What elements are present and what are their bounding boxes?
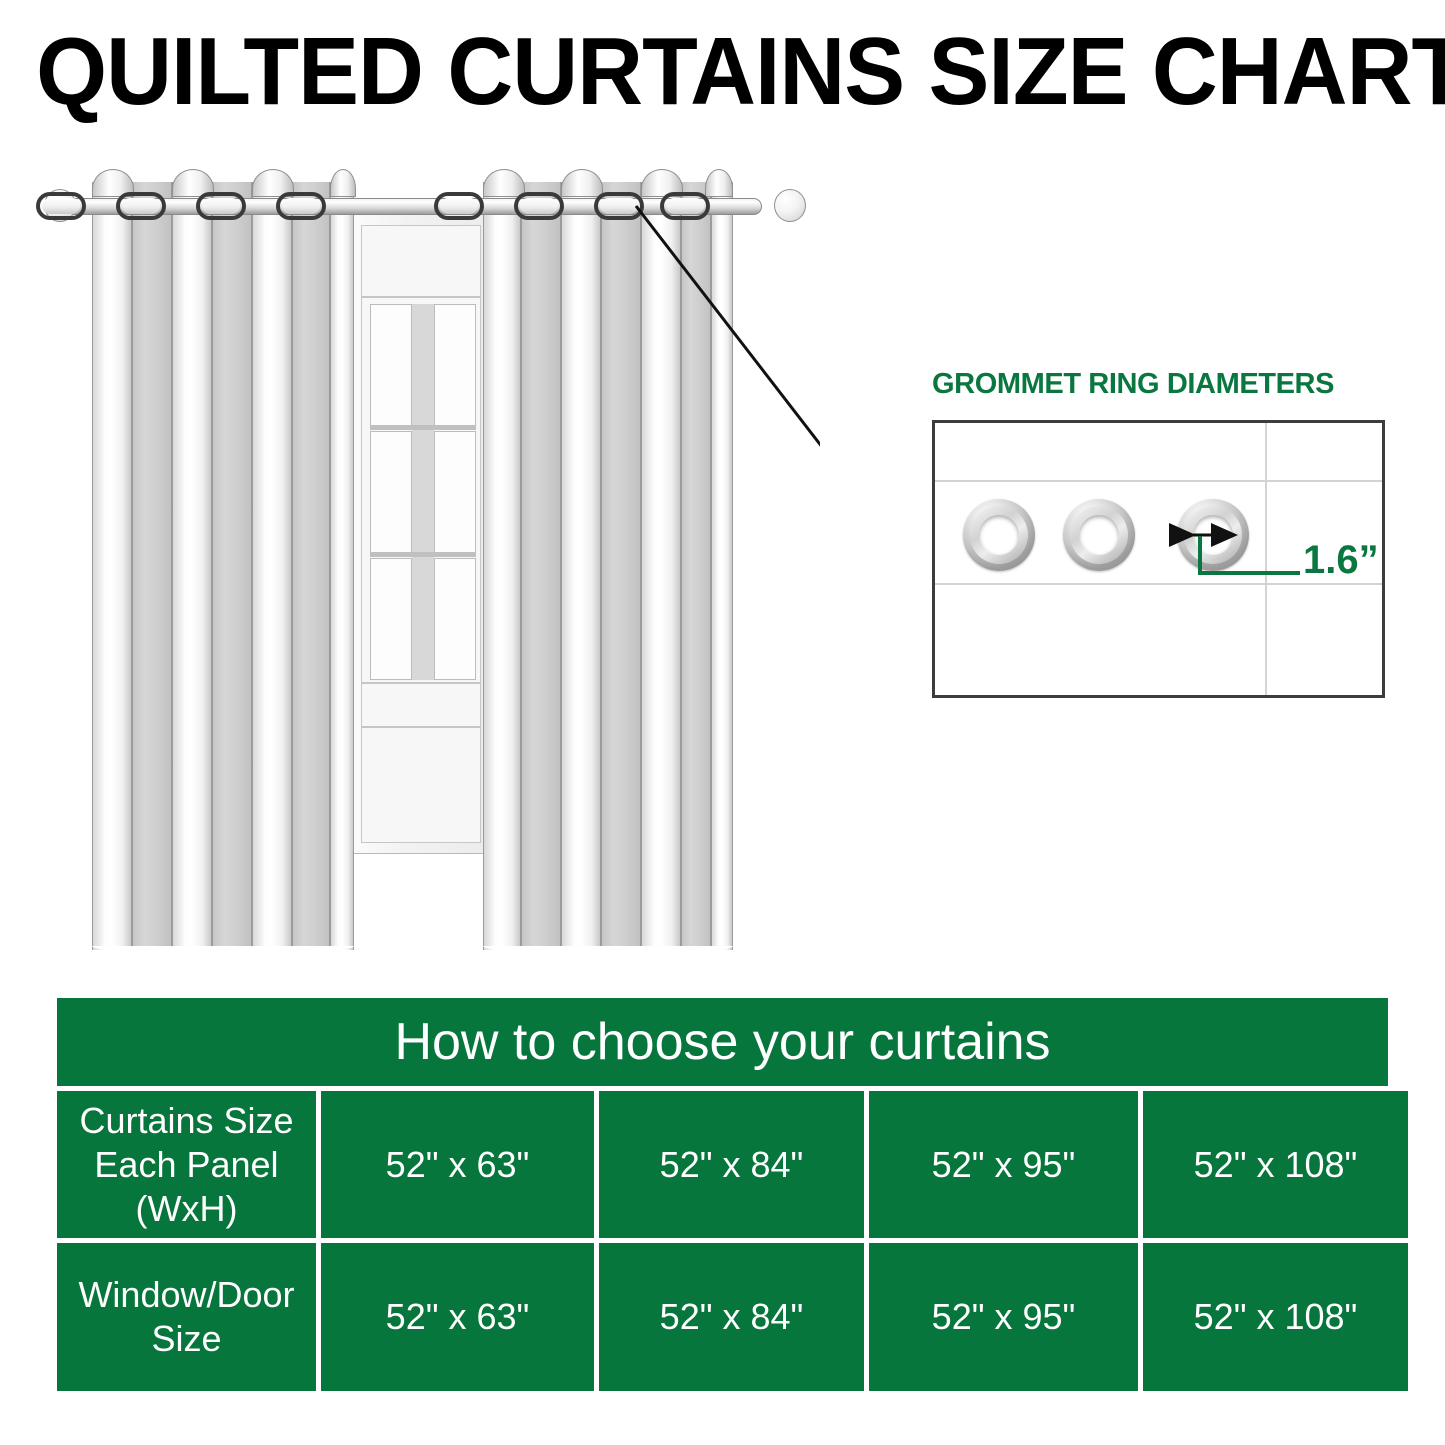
curtain-fold xyxy=(252,182,292,950)
curtain-fold xyxy=(711,182,733,950)
window-pane xyxy=(370,558,412,680)
row-label-line: Curtains Size xyxy=(79,1100,293,1141)
window-pane xyxy=(370,304,412,426)
curtain-panel-left xyxy=(92,182,354,950)
table-row: Window/Door Size 52" x 63" 52" x 84" 52"… xyxy=(57,1243,1388,1391)
fabric-edge-line xyxy=(1265,423,1267,695)
window-inner-frame xyxy=(361,225,481,843)
curtain-fold xyxy=(92,182,132,950)
window-pane xyxy=(434,304,476,426)
window-rail-top xyxy=(362,296,480,298)
grommet-ring-sample xyxy=(1063,499,1135,571)
grommet-ring-icon xyxy=(116,192,166,220)
row-label-line: (WxH) xyxy=(136,1188,238,1229)
grommet-ring-sample xyxy=(963,499,1035,571)
table-cell: 52" x 63" xyxy=(321,1243,594,1391)
row-label-line: Size xyxy=(151,1318,221,1359)
curtain-hem xyxy=(483,946,733,954)
size-chart-page: QUILTED CURTAINS SIZE CHART xyxy=(0,0,1445,1445)
curtain-fold xyxy=(132,182,172,950)
window-pane xyxy=(434,558,476,680)
window-door-graphic xyxy=(352,214,490,854)
curtain-pleat-cap xyxy=(561,169,603,197)
curtain-hem xyxy=(92,946,354,954)
grommet-detail-panel: GROMMET RING DIAMETERS 1.6” xyxy=(905,360,1405,710)
row-label-line: Each Panel xyxy=(94,1144,278,1185)
window-mullion-vertical xyxy=(412,304,434,680)
grommet-ring-icon xyxy=(660,192,710,220)
row-label-curtain-size: Curtains Size Each Panel (WxH) xyxy=(57,1091,316,1238)
rod-finial-right-icon xyxy=(774,189,806,222)
grommet-ring-icon xyxy=(36,192,86,220)
grommet-ring-icon xyxy=(196,192,246,220)
size-table: How to choose your curtains Curtains Siz… xyxy=(57,998,1388,1391)
curtain-pleat-cap xyxy=(483,169,525,197)
window-mullion-horizontal xyxy=(370,552,476,557)
grommet-ring-icon xyxy=(514,192,564,220)
curtain-rod xyxy=(62,198,762,215)
page-title: QUILTED CURTAINS SIZE CHART xyxy=(36,24,1409,120)
curtain-fold xyxy=(521,182,561,950)
window-mullion-horizontal xyxy=(370,425,476,430)
curtain-fold xyxy=(681,182,711,950)
grommet-diameter-label: 1.6” xyxy=(1303,538,1379,583)
curtain-fold xyxy=(601,182,641,950)
table-header-title: How to choose your curtains xyxy=(57,998,1388,1086)
curtain-fold xyxy=(212,182,252,950)
grommet-detail-heading: GROMMET RING DIAMETERS xyxy=(932,368,1412,401)
window-pane xyxy=(370,431,412,553)
curtain-pleat-cap xyxy=(330,169,356,197)
table-row: Curtains Size Each Panel (WxH) 52" x 63"… xyxy=(57,1091,1388,1238)
window-pane xyxy=(434,431,476,553)
table-cell: 52" x 108" xyxy=(1143,1243,1408,1391)
grommet-ring-sample xyxy=(1177,499,1249,571)
curtain-pleat-cap xyxy=(705,169,733,197)
grommet-ring-icon xyxy=(434,192,484,220)
window-rail-bottom xyxy=(362,682,480,684)
table-cell: 52" x 63" xyxy=(321,1091,594,1238)
curtain-fold xyxy=(292,182,330,950)
fabric-seam-line xyxy=(935,583,1382,585)
fabric-seam-line xyxy=(935,480,1382,482)
table-cell: 52" x 84" xyxy=(599,1243,864,1391)
curtain-fold xyxy=(561,182,601,950)
row-label-window-size: Window/Door Size xyxy=(57,1243,316,1391)
grommet-ring-icon xyxy=(594,192,644,220)
curtain-fold xyxy=(483,182,521,950)
curtain-fold xyxy=(330,182,354,950)
curtain-fold xyxy=(641,182,681,950)
table-cell: 52" x 95" xyxy=(869,1091,1138,1238)
curtain-fold xyxy=(172,182,212,950)
row-label-line: Window/Door xyxy=(78,1274,294,1315)
table-cell: 52" x 84" xyxy=(599,1091,864,1238)
curtain-panel-right xyxy=(483,182,733,950)
table-cell: 52" x 95" xyxy=(869,1243,1138,1391)
grommet-ring-icon xyxy=(276,192,326,220)
curtain-illustration xyxy=(0,160,820,970)
window-sill xyxy=(362,726,480,728)
table-cell: 52" x 108" xyxy=(1143,1091,1408,1238)
